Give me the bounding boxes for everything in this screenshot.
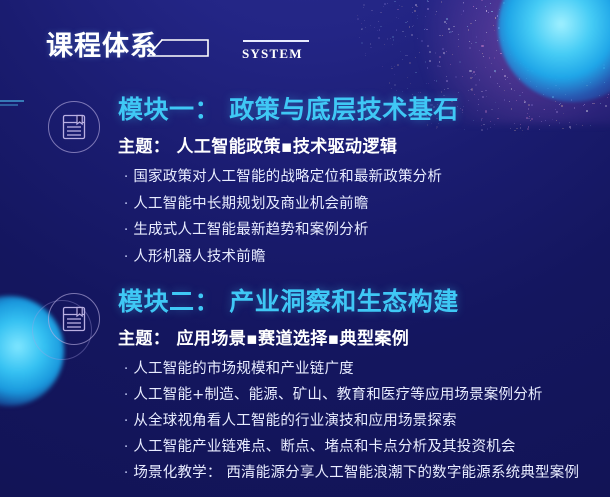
module-1-title: 模块一： 政策与底层技术基石 <box>118 96 459 124</box>
module-2-bullet-list: ·人工智能的市场规模和产业链广度 ·人工智能+制造、能源、矿山、教育和医疗等应用… <box>0 362 610 481</box>
module-1-header: 模块一： 政策与底层技术基石 主题： 人工智能政策▪技术驱动逻辑 <box>0 96 610 157</box>
bullet-dot-icon: · <box>124 362 128 377</box>
list-item: ·人工智能产业链难点、断点、堵点和卡点分析及其投资机会 <box>124 440 610 455</box>
bullet-dot-icon: · <box>124 388 128 403</box>
bullet-dot-icon: · <box>124 414 128 429</box>
bullet-dot-icon: · <box>124 440 128 455</box>
bullet-dot-icon: · <box>124 170 128 185</box>
book-document-icon-glyph <box>61 305 87 333</box>
list-item-label: 人工智能产业链难点、断点、堵点和卡点分析及其投资机会 <box>133 439 515 455</box>
module-2-title: 模块二： 产业洞察和生态构建 <box>118 288 459 316</box>
header-system-block: SYSTEM <box>242 36 309 60</box>
list-item-label: 人工智能的市场规模和产业链广度 <box>133 361 354 377</box>
header-subtitle-en: SYSTEM <box>242 47 309 60</box>
header-logo: 课程体系 SYSTEM <box>46 14 309 60</box>
module-1-bullet-list: ·国家政策对人工智能的战略定位和最新政策分析 ·人工智能中长期规划及商业机会前瞻… <box>0 170 610 264</box>
bullet-dot-icon: · <box>124 223 128 238</box>
module-2-header: 模块二： 产业洞察和生态构建 主题： 应用场景▪赛道选择▪典型案例 <box>0 288 610 349</box>
list-item-label: 人工智能中长期规划及商业机会前瞻 <box>133 196 368 212</box>
cyan-glow-orb-top-right <box>498 0 610 102</box>
slide-canvas: 课程体系 SYSTEM 模块一： 政策与底层技 <box>0 0 610 497</box>
header-rule-icon <box>243 40 309 42</box>
list-item: ·人工智能+制造、能源、矿山、教育和医疗等应用场景案例分析 <box>124 388 610 403</box>
module-section-1: 模块一： 政策与底层技术基石 主题： 人工智能政策▪技术驱动逻辑 ·国家政策对人… <box>0 96 610 276</box>
book-document-icon-glyph <box>61 113 87 141</box>
bullet-dot-icon: · <box>124 197 128 212</box>
book-document-icon <box>48 101 100 153</box>
module-section-2: 模块二： 产业洞察和生态构建 主题： 应用场景▪赛道选择▪典型案例 ·人工智能的… <box>0 288 610 492</box>
list-item: ·人形机器人技术前瞻 <box>124 250 610 265</box>
module-1-subtitle: 主题： 人工智能政策▪技术驱动逻辑 <box>118 132 459 157</box>
book-document-icon <box>48 293 100 345</box>
list-item-label: 从全球视角看人工智能的行业演技和应用场景探索 <box>133 413 456 429</box>
list-item-label: 国家政策对人工智能的战略定位和最新政策分析 <box>133 169 442 185</box>
list-item: ·国家政策对人工智能的战略定位和最新政策分析 <box>124 170 610 185</box>
list-item: ·场景化教学： 西清能源分享人工智能浪潮下的数字能源系统典型案例 <box>124 466 610 481</box>
list-item-label: 生成式人工智能最新趋势和案例分析 <box>133 222 368 238</box>
bullet-dot-icon: · <box>124 250 128 265</box>
list-item-label: 人工智能+制造、能源、矿山、教育和医疗等应用场景案例分析 <box>133 387 542 403</box>
module-1-text: 模块一： 政策与底层技术基石 主题： 人工智能政策▪技术驱动逻辑 <box>118 96 459 157</box>
list-item: ·人工智能中长期规划及商业机会前瞻 <box>124 197 610 212</box>
module-2-subtitle: 主题： 应用场景▪赛道选择▪典型案例 <box>118 324 459 349</box>
bullet-dot-icon: · <box>124 466 128 481</box>
list-item-label: 场景化教学： 西清能源分享人工智能浪潮下的数字能源系统典型案例 <box>133 465 579 481</box>
module-2-text: 模块二： 产业洞察和生态构建 主题： 应用场景▪赛道选择▪典型案例 <box>118 288 459 349</box>
list-item: ·从全球视角看人工智能的行业演技和应用场景探索 <box>124 414 610 429</box>
list-item: ·人工智能的市场规模和产业链广度 <box>124 362 610 377</box>
list-item-label: 人形机器人技术前瞻 <box>133 249 265 265</box>
list-item: ·生成式人工智能最新趋势和案例分析 <box>124 223 610 238</box>
page-title: 课程体系 <box>46 33 158 60</box>
